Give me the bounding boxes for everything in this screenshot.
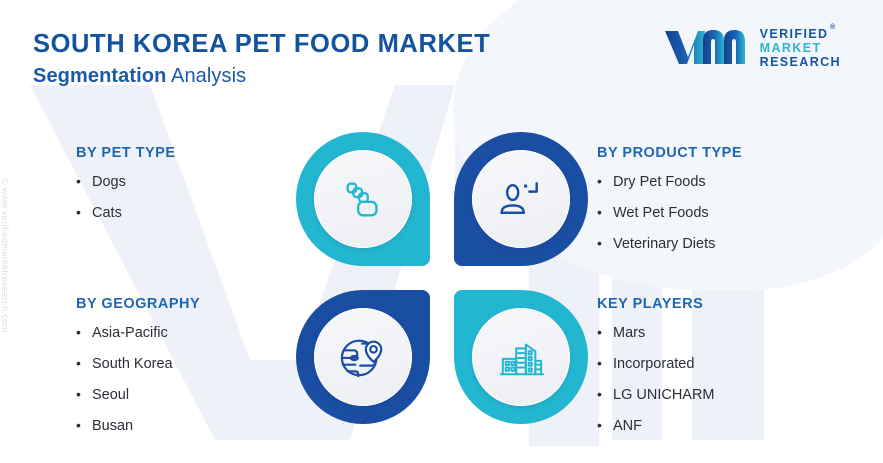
logo-line-market: MARKET bbox=[760, 41, 841, 55]
list-item: •Veterinary Diets bbox=[597, 236, 742, 253]
vmr-logo: VERIFIED® MARKET RESEARCH bbox=[663, 27, 841, 69]
pin-inner-disc bbox=[472, 308, 570, 406]
list-item-label: South Korea bbox=[92, 357, 173, 373]
list-item: •Dogs bbox=[76, 174, 176, 191]
segment-list: •Asia-Pacific •South Korea •Seoul •Busan bbox=[76, 325, 200, 435]
globe-location-pin-icon bbox=[339, 334, 387, 380]
list-item-label: LG UNICHARM bbox=[613, 388, 715, 404]
list-item: •ANF bbox=[597, 418, 715, 435]
bullet-glyph: • bbox=[76, 387, 92, 402]
list-item: •LG UNICHARM bbox=[597, 387, 715, 404]
list-item-label: Seoul bbox=[92, 388, 129, 404]
list-item-label: Dogs bbox=[92, 175, 126, 191]
bullet-glyph: • bbox=[597, 205, 613, 220]
segment-block-pet-type: BY PET TYPE •Dogs •Cats bbox=[76, 145, 176, 236]
vmr-logo-wordmark: VERIFIED® MARKET RESEARCH bbox=[760, 27, 841, 69]
segment-heading: BY GEOGRAPHY bbox=[76, 296, 200, 312]
bullet-glyph: • bbox=[597, 325, 613, 340]
list-item-label: Asia-Pacific bbox=[92, 326, 168, 342]
segment-list: •Dry Pet Foods •Wet Pet Foods •Veterinar… bbox=[597, 174, 742, 253]
bullet-glyph: • bbox=[597, 236, 613, 251]
list-item-label: Veterinary Diets bbox=[613, 237, 715, 253]
list-item-label: Cats bbox=[92, 206, 122, 222]
list-item-label: Incorporated bbox=[613, 357, 694, 373]
segment-pin-key-players bbox=[454, 290, 588, 424]
segment-block-geography: BY GEOGRAPHY •Asia-Pacific •South Korea … bbox=[76, 296, 200, 449]
page-subtitle-light: Analysis bbox=[171, 65, 246, 87]
logo-line-verified: VERIFIED® bbox=[760, 27, 829, 41]
infographic-canvas: © www.verifiedmarketresearch.com SOUTH K… bbox=[0, 0, 883, 463]
logo-line-research: RESEARCH bbox=[760, 55, 841, 69]
pin-inner-disc bbox=[314, 308, 412, 406]
bullet-glyph: • bbox=[76, 174, 92, 189]
bullet-glyph: • bbox=[597, 387, 613, 402]
list-item: •Wet Pet Foods bbox=[597, 205, 742, 222]
pin-inner-disc bbox=[314, 150, 412, 248]
list-item: •Dry Pet Foods bbox=[597, 174, 742, 191]
page-subtitle-bold: Segmentation bbox=[33, 65, 166, 87]
segment-icon-cluster bbox=[296, 132, 588, 424]
page-title: SOUTH KOREA PET FOOD MARKET bbox=[33, 31, 490, 58]
list-item: •Seoul bbox=[76, 387, 200, 404]
paw-print-icon bbox=[340, 176, 386, 222]
pin-inner-disc bbox=[472, 150, 570, 248]
list-item: •Busan bbox=[76, 418, 200, 435]
list-item: •Incorporated bbox=[597, 356, 715, 373]
copyright-watermark: © www.verifiedmarketresearch.com bbox=[0, 178, 10, 378]
pet-product-person-icon bbox=[497, 177, 545, 221]
segment-heading: KEY PLAYERS bbox=[597, 296, 715, 312]
header-title-block: SOUTH KOREA PET FOOD MARKET Segmentation… bbox=[33, 31, 490, 87]
page-subtitle: Segmentation Analysis bbox=[33, 66, 490, 87]
bullet-glyph: • bbox=[76, 205, 92, 220]
segment-list: •Mars •Incorporated •LG UNICHARM •ANF bbox=[597, 325, 715, 435]
bullet-glyph: • bbox=[76, 418, 92, 433]
vmr-logo-mark-icon bbox=[663, 27, 749, 69]
office-buildings-icon bbox=[497, 335, 545, 379]
bullet-glyph: • bbox=[597, 174, 613, 189]
list-item: •Asia-Pacific bbox=[76, 325, 200, 342]
bullet-glyph: • bbox=[76, 325, 92, 340]
segment-pin-geography bbox=[296, 290, 430, 424]
registered-mark: ® bbox=[830, 24, 837, 32]
list-item-label: Dry Pet Foods bbox=[613, 175, 706, 191]
list-item: •Cats bbox=[76, 205, 176, 222]
segment-list: •Dogs •Cats bbox=[76, 174, 176, 222]
list-item: •South Korea bbox=[76, 356, 200, 373]
segment-block-product-type: BY PRODUCT TYPE •Dry Pet Foods •Wet Pet … bbox=[597, 145, 742, 267]
bullet-glyph: • bbox=[597, 418, 613, 433]
segment-pin-product-type bbox=[454, 132, 588, 266]
list-item-label: Wet Pet Foods bbox=[613, 206, 709, 222]
list-item: •Mars bbox=[597, 325, 715, 342]
list-item-label: Busan bbox=[92, 419, 133, 435]
segment-heading: BY PRODUCT TYPE bbox=[597, 145, 742, 161]
segment-heading: BY PET TYPE bbox=[76, 145, 176, 161]
segment-block-key-players: KEY PLAYERS •Mars •Incorporated •LG UNIC… bbox=[597, 296, 715, 449]
bullet-glyph: • bbox=[597, 356, 613, 371]
list-item-label: Mars bbox=[613, 326, 645, 342]
segment-pin-pet-type bbox=[296, 132, 430, 266]
list-item-label: ANF bbox=[613, 419, 642, 435]
bullet-glyph: • bbox=[76, 356, 92, 371]
